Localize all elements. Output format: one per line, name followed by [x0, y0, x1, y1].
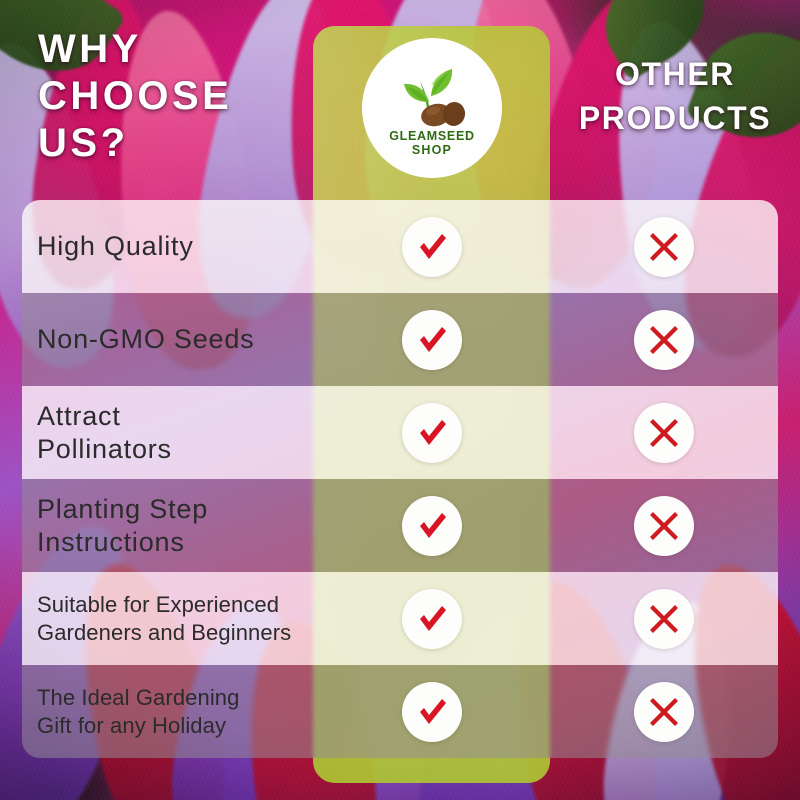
our-product-cell: [313, 682, 550, 742]
brand-name-line2: SHOP: [412, 144, 452, 157]
table-row: Suitable for Experienced Gardeners and B…: [22, 572, 778, 665]
check-icon: [413, 693, 451, 731]
feature-cell: Suitable for Experienced Gardeners and B…: [22, 591, 313, 647]
close-icon: [647, 323, 681, 357]
table-row: Attract Pollinators: [22, 386, 778, 479]
table-row: The Ideal Gardening Gift for any Holiday: [22, 665, 778, 758]
other-product-cell: [550, 589, 778, 649]
brand-logo: GLEAMSEED SHOP: [362, 38, 502, 178]
close-icon: [647, 416, 681, 450]
cross-badge: [634, 589, 694, 649]
cross-badge: [634, 496, 694, 556]
cross-badge: [634, 217, 694, 277]
close-icon: [647, 230, 681, 264]
other-product-cell: [550, 403, 778, 463]
cross-badge: [634, 403, 694, 463]
other-products-title: OTHER PRODUCTS: [560, 52, 790, 140]
page-title: WHY CHOOSE US?: [38, 26, 308, 167]
check-icon: [413, 600, 451, 638]
table-row: Non-GMO Seeds: [22, 293, 778, 386]
our-product-cell: [313, 403, 550, 463]
feature-cell: Planting Step Instructions: [22, 493, 313, 559]
our-product-cell: [313, 310, 550, 370]
feature-label: High Quality: [37, 230, 313, 263]
check-icon: [413, 507, 451, 545]
feature-label: Non-GMO Seeds: [37, 323, 313, 356]
other-product-cell: [550, 682, 778, 742]
check-badge: [402, 496, 462, 556]
check-badge: [402, 589, 462, 649]
cross-badge: [634, 310, 694, 370]
sprout-with-seeds-icon: [384, 62, 480, 132]
other-product-cell: [550, 217, 778, 277]
close-icon: [647, 695, 681, 729]
check-icon: [413, 228, 451, 266]
feature-cell: Non-GMO Seeds: [22, 323, 313, 356]
our-product-cell: [313, 217, 550, 277]
cross-badge: [634, 682, 694, 742]
feature-cell: Attract Pollinators: [22, 400, 313, 466]
table-row: Planting Step Instructions: [22, 479, 778, 572]
feature-label: Attract Pollinators: [37, 400, 237, 466]
check-badge: [402, 403, 462, 463]
feature-label: Planting Step Instructions: [37, 493, 252, 559]
feature-label: The Ideal Gardening Gift for any Holiday: [37, 684, 267, 740]
feature-cell: High Quality: [22, 230, 313, 263]
feature-cell: The Ideal Gardening Gift for any Holiday: [22, 684, 313, 740]
check-icon: [413, 414, 451, 452]
check-badge: [402, 682, 462, 742]
feature-label: Suitable for Experienced Gardeners and B…: [37, 591, 299, 647]
check-badge: [402, 217, 462, 277]
our-product-cell: [313, 589, 550, 649]
comparison-table: High Quality Non-GMO Seeds: [22, 200, 778, 758]
other-product-cell: [550, 310, 778, 370]
check-icon: [413, 321, 451, 359]
close-icon: [647, 602, 681, 636]
our-product-cell: [313, 496, 550, 556]
table-row: High Quality: [22, 200, 778, 293]
other-product-cell: [550, 496, 778, 556]
close-icon: [647, 509, 681, 543]
brand-name-line1: GLEAMSEED: [389, 130, 474, 143]
comparison-infographic: WHY CHOOSE US? OTHER PRODUCTS GLEAMSEED …: [0, 0, 800, 800]
check-badge: [402, 310, 462, 370]
